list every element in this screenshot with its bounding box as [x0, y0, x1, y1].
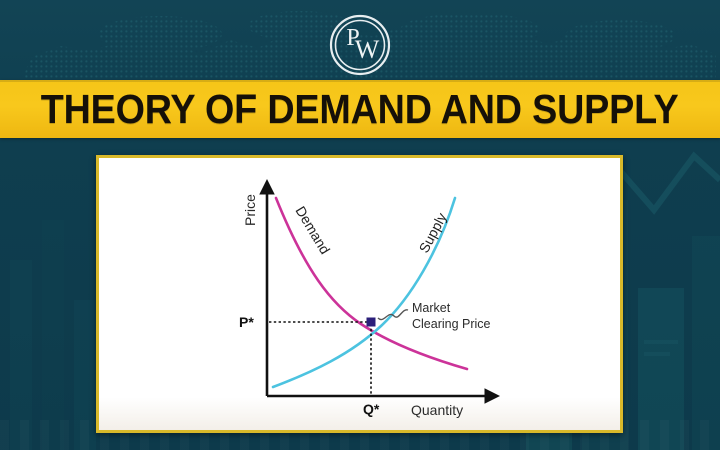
title-banner: THEORY OF DEMAND AND SUPPLY [0, 80, 720, 138]
x-axis-label: Quantity [411, 402, 463, 418]
market-clearing-price-line1: Market [412, 301, 451, 315]
market-clearing-price-line2: Clearing Price [412, 317, 491, 331]
annotation-leader-line [378, 310, 408, 320]
price-star-tick-label: P* [239, 314, 254, 330]
logo-letter-w: W [355, 35, 380, 64]
pw-monogram-icon: P W [329, 14, 391, 76]
quantity-star-tick-label: Q* [363, 401, 380, 417]
brand-logo: P W [0, 14, 720, 76]
chart-card: Price Quantity Demand Supply P* Q* Marke… [96, 155, 623, 433]
chart-card-inner: Price Quantity Demand Supply P* Q* Marke… [99, 158, 620, 430]
page-title: THEORY OF DEMAND AND SUPPLY [41, 86, 679, 133]
supply-curve-label: Supply [416, 210, 450, 255]
equilibrium-point-marker [367, 318, 376, 327]
background-bar-chart-left [0, 150, 110, 450]
y-axis-label: Price [242, 194, 258, 226]
supply-demand-chart: Price Quantity Demand Supply P* Q* Marke… [99, 158, 620, 430]
